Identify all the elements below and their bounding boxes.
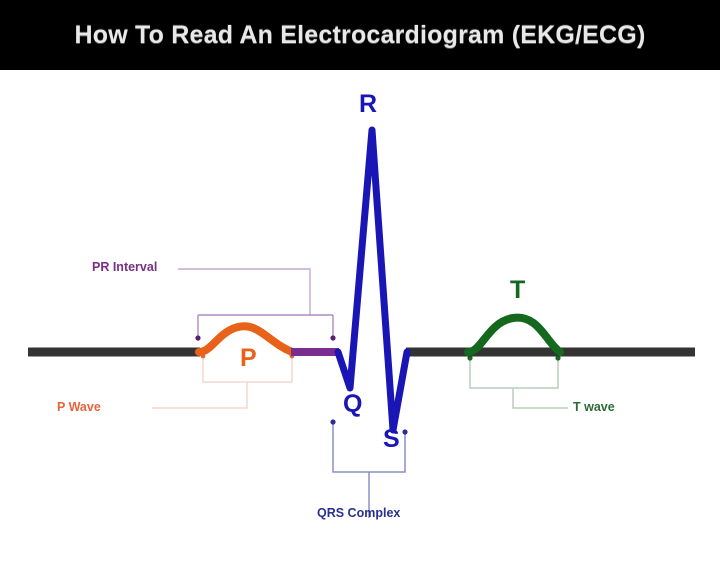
wave-label-t: T xyxy=(510,278,525,303)
header-band: How To Read An Electrocardiogram (EKG/EC… xyxy=(0,0,720,70)
t-wave-trace xyxy=(468,318,560,352)
qrs-right-dot xyxy=(402,429,407,434)
ecg-diagram-canvas: R P Q S T PR Interval P Wave QRS Complex… xyxy=(0,70,720,568)
pr-interval-right-dot xyxy=(330,335,335,340)
annotation-label-p-wave: P Wave xyxy=(57,401,101,414)
annotation-label-t-wave: T wave xyxy=(573,401,615,414)
wave-label-r: R xyxy=(359,92,377,117)
t-wave-bracket-bar xyxy=(470,360,558,388)
t-wave-bracket xyxy=(467,355,568,408)
qrs-left-dot xyxy=(330,419,335,424)
wave-label-p: P xyxy=(240,346,257,371)
annotation-label-pr-interval: PR Interval xyxy=(92,261,157,274)
pr-interval-leader-line xyxy=(178,269,310,315)
wave-label-q: Q xyxy=(343,392,362,417)
pr-interval-left-dot xyxy=(195,335,200,340)
qrs-complex-trace xyxy=(338,130,407,430)
annotation-label-qrs-complex: QRS Complex xyxy=(317,507,400,520)
wave-label-s: S xyxy=(383,427,400,452)
ekg-diagram-page: How To Read An Electrocardiogram (EKG/EC… xyxy=(0,0,720,568)
ecg-trace-svg xyxy=(0,70,720,568)
p-wave-bracket xyxy=(152,354,294,408)
t-wave-leader-line xyxy=(513,388,568,408)
page-title: How To Read An Electrocardiogram (EKG/EC… xyxy=(0,0,720,70)
p-wave-leader-line xyxy=(152,382,247,408)
